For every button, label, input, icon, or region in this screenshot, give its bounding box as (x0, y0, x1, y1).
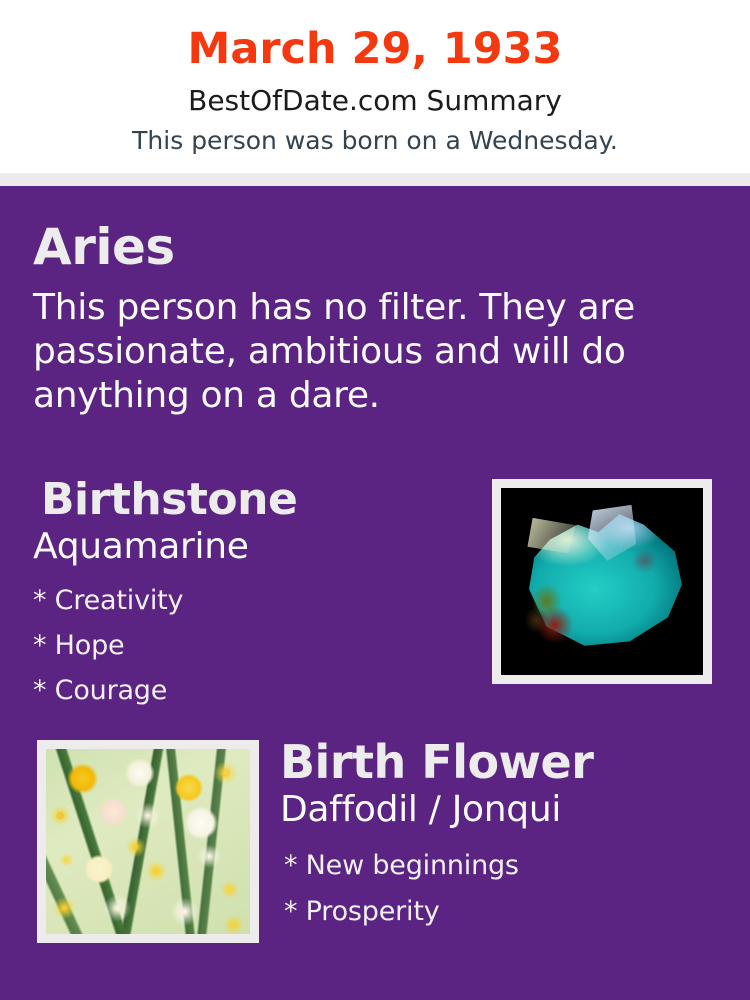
birthflower-section: Birth Flower Daffodil / Jonqui * New beg… (280, 735, 730, 935)
birthstone-section: Birthstone Aquamarine * Creativity * Hop… (33, 474, 473, 713)
crystal-matrix-inclusion (525, 582, 582, 646)
page-title-date: March 29, 1933 (0, 24, 750, 74)
flower-blooms (46, 749, 250, 934)
site-name: BestOfDate.com Summary (0, 84, 750, 118)
list-item: * Prosperity (284, 889, 730, 935)
zodiac-description: This person has no filter. They are pass… (33, 286, 648, 418)
zodiac-section: Aries This person has no filter. They ar… (33, 218, 693, 418)
birthstone-name: Aquamarine (33, 526, 473, 568)
birthstone-title: Birthstone (33, 474, 473, 526)
list-item: * Courage (33, 668, 473, 713)
aquamarine-crystal-photo (501, 488, 703, 675)
header: March 29, 1933 BestOfDate.com Summary Th… (0, 0, 750, 173)
zodiac-sign-title: Aries (33, 218, 693, 276)
birthstone-trait-list: * Creativity * Hope * Courage (33, 578, 473, 713)
summary-card: March 29, 1933 BestOfDate.com Summary Th… (0, 0, 750, 1000)
birthflower-trait-list: * New beginnings * Prosperity (280, 843, 730, 935)
daffodil-flowers-photo (46, 749, 250, 934)
list-item: * Hope (33, 623, 473, 668)
birthflower-title: Birth Flower (280, 735, 730, 789)
birthflower-photo-frame (37, 740, 259, 943)
list-item: * New beginnings (284, 843, 730, 889)
birthflower-name: Daffodil / Jonqui (280, 789, 730, 831)
crystal-inclusion-secondary (622, 537, 666, 586)
birth-weekday-text: This person was born on a Wednesday. (0, 126, 750, 156)
header-divider (0, 173, 750, 186)
birthstone-photo-frame (492, 479, 712, 684)
list-item: * Creativity (33, 578, 473, 623)
